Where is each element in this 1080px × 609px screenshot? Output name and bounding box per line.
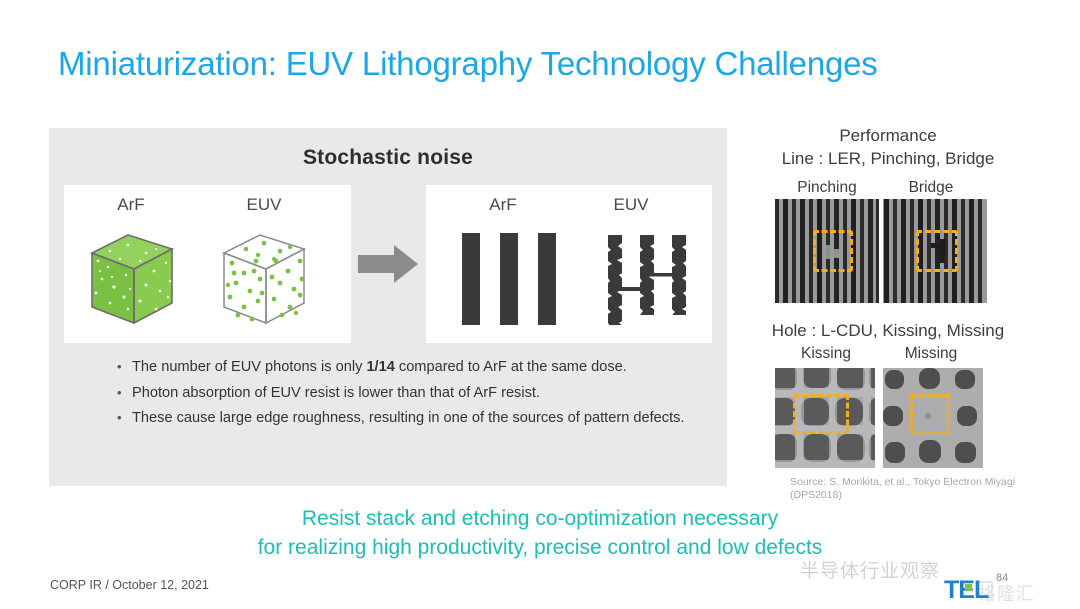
performance-heading-line2: Line : LER, Pinching, Bridge xyxy=(728,148,1048,170)
tel-logo-accent xyxy=(965,584,972,591)
bullet-text-pre: Photon absorption of EUV resist is lower… xyxy=(132,385,540,401)
arf-line-pattern xyxy=(462,233,562,325)
list-item: The number of EUV photons is only 1/14 c… xyxy=(115,356,765,380)
wechat-watermark: 半导体行业观察 xyxy=(800,556,940,583)
caption-pinching: Pinching xyxy=(772,179,882,197)
caption-missing: Missing xyxy=(876,345,986,363)
label-euv-pattern: EUV xyxy=(586,195,676,215)
panel-heading: Stochastic noise xyxy=(49,146,727,170)
label-arf-cube: ArF xyxy=(86,195,176,215)
bullet-text-pre: The number of EUV photons is only xyxy=(132,359,366,375)
label-arf-pattern: ArF xyxy=(458,195,548,215)
sem-image-missing xyxy=(883,368,983,468)
euv-line-pattern xyxy=(604,233,690,325)
performance-heading-line1: Performance xyxy=(728,125,1048,147)
source-citation: Source: S. Morikita, et al., Tokyo Elect… xyxy=(790,476,1060,502)
label-euv-cube: EUV xyxy=(219,195,309,215)
defect-highlight-box xyxy=(793,394,849,434)
defect-highlight-box xyxy=(916,230,958,272)
arf-cube-icon xyxy=(84,227,180,331)
arf-photon-cube xyxy=(84,227,180,331)
sem-image-bridge xyxy=(883,199,987,303)
bullet-text-post: compared to ArF at the same dose. xyxy=(395,359,627,375)
list-item: These cause large edge roughness, result… xyxy=(115,407,765,431)
list-item: Photon absorption of EUV resist is lower… xyxy=(115,382,765,406)
bullet-list: The number of EUV photons is only 1/14 c… xyxy=(115,356,765,433)
defect-highlight-box xyxy=(910,394,950,434)
sem-image-pinching xyxy=(775,199,879,303)
defect-highlight-box xyxy=(813,230,853,272)
page-title: Miniaturization: EUV Lithography Technol… xyxy=(58,44,878,84)
bullet-text-bold: 1/14 xyxy=(366,359,394,375)
caption-bridge: Bridge xyxy=(876,179,986,197)
bullet-text-pre: These cause large edge roughness, result… xyxy=(132,410,684,426)
sem-image-kissing xyxy=(775,368,875,468)
euv-photon-cube xyxy=(216,227,312,331)
caption-kissing: Kissing xyxy=(771,345,881,363)
euv-rough-lines-icon xyxy=(604,233,690,325)
arrow-right-icon xyxy=(356,242,420,286)
euv-cube-icon xyxy=(216,227,312,331)
photon-density-box: ArF EUV xyxy=(64,185,351,343)
line-pattern-box: ArF EUV xyxy=(426,185,712,343)
stochastic-noise-panel: Stochastic noise ArF EUV xyxy=(49,128,727,486)
conclusion-line-1: Resist stack and etching co-optimization… xyxy=(0,504,1080,533)
conclusion-text: Resist stack and etching co-optimization… xyxy=(0,504,1080,562)
hole-heading: Hole : L-CDU, Kissing, Missing xyxy=(728,320,1048,342)
slide-root: Miniaturization: EUV Lithography Technol… xyxy=(0,0,1080,609)
footer-date: CORP IR / October 12, 2021 xyxy=(50,578,209,592)
